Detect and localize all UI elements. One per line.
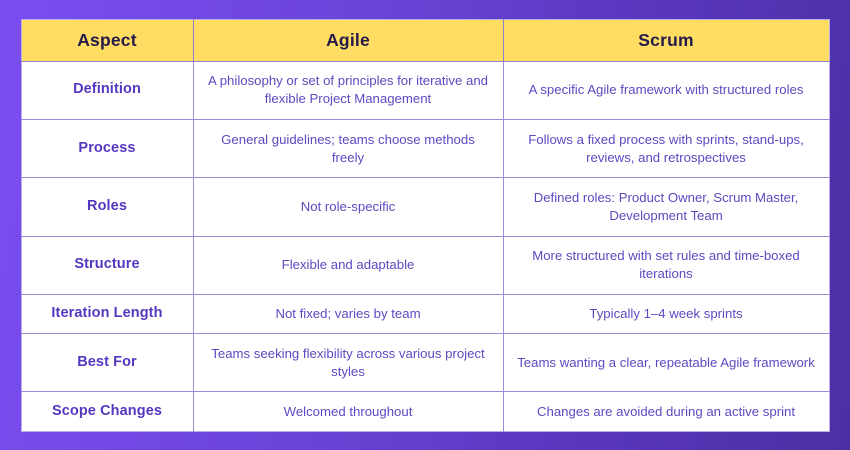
table-row: Iteration Length Not fixed; varies by te… [21,294,829,333]
cell-scrum: Defined roles: Product Owner, Scrum Mast… [503,178,829,236]
table-header: Aspect Agile Scrum [21,19,829,61]
table-body: Definition A philosophy or set of princi… [21,61,829,431]
cell-agile: Welcomed throughout [193,392,503,431]
cell-aspect: Scope Changes [21,392,193,431]
table-row: Definition A philosophy or set of princi… [21,61,829,119]
cell-agile: General guidelines; teams choose methods… [193,119,503,177]
cell-scrum: Follows a fixed process with sprints, st… [503,119,829,177]
cell-scrum: Teams wanting a clear, repeatable Agile … [503,334,829,392]
table-row: Process General guidelines; teams choose… [21,119,829,177]
column-header-scrum: Scrum [503,19,829,61]
table-row: Roles Not role-specific Defined roles: P… [21,178,829,236]
cell-aspect: Roles [21,178,193,236]
table-header-row: Aspect Agile Scrum [21,19,829,61]
cell-agile: A philosophy or set of principles for it… [193,61,503,119]
cell-aspect: Best For [21,334,193,392]
table-row: Scope Changes Welcomed throughout Change… [21,392,829,431]
cell-aspect: Process [21,119,193,177]
cell-agile: Not fixed; varies by team [193,294,503,333]
table-row: Structure Flexible and adaptable More st… [21,236,829,294]
cell-aspect: Definition [21,61,193,119]
table-row: Best For Teams seeking flexibility acros… [21,334,829,392]
cell-agile: Flexible and adaptable [193,236,503,294]
cell-scrum: Typically 1–4 week sprints [503,294,829,333]
cell-aspect: Structure [21,236,193,294]
cell-scrum: A specific Agile framework with structur… [503,61,829,119]
cell-scrum: More structured with set rules and time-… [503,236,829,294]
agile-vs-scrum-comparison-table: Aspect Agile Scrum Definition A philosop… [21,19,830,432]
column-header-agile: Agile [193,19,503,61]
cell-scrum: Changes are avoided during an active spr… [503,392,829,431]
column-header-aspect: Aspect [21,19,193,61]
cell-aspect: Iteration Length [21,294,193,333]
cell-agile: Teams seeking flexibility across various… [193,334,503,392]
cell-agile: Not role-specific [193,178,503,236]
